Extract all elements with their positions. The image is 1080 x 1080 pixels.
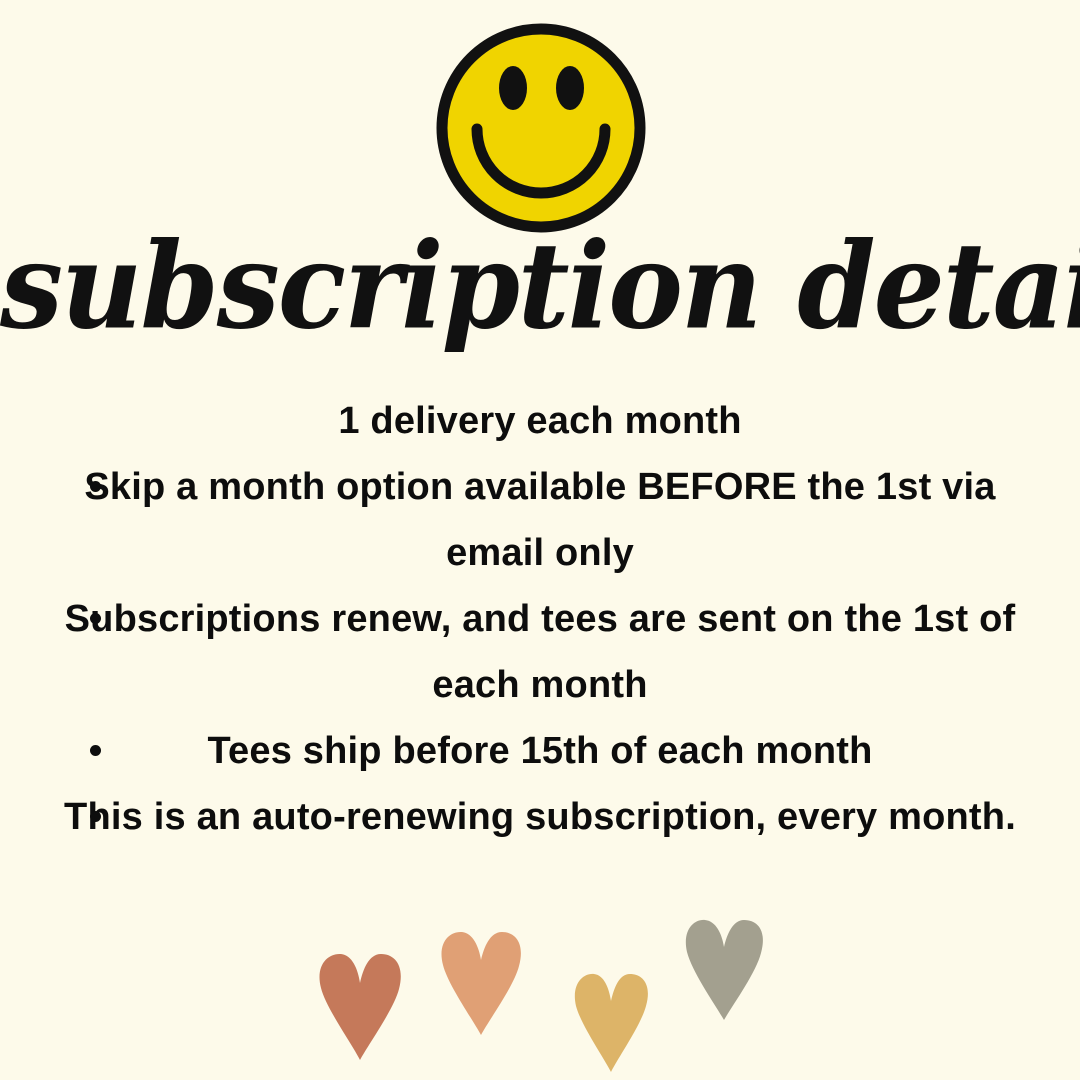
heart-decoration-row [0, 910, 1080, 1080]
list-item: Tees ship before 15th of each month [0, 718, 1080, 784]
list-item: Skip a month option available BEFORE the… [0, 454, 1080, 586]
page-title: subscription details [0, 228, 1080, 347]
heart-gold-icon [573, 972, 649, 1072]
list-item-label: Subscriptions renew, and tees are sent o… [60, 586, 1020, 718]
smiley-face-icon [433, 19, 649, 237]
lead-line: 1 delivery each month [0, 388, 1080, 454]
subscription-details-poster: subscription details 1 delivery each mon… [0, 0, 1080, 1080]
list-item-label: Skip a month option available BEFORE the… [60, 454, 1020, 586]
list-item: Subscriptions renew, and tees are sent o… [0, 586, 1080, 718]
bullet-dot-icon [90, 745, 101, 756]
heart-terracotta-icon [318, 952, 402, 1060]
list-item-label: This is an auto-renewing subscription, e… [60, 784, 1020, 850]
details-list: 1 delivery each month Skip a month optio… [0, 388, 1080, 850]
list-item: This is an auto-renewing subscription, e… [0, 784, 1080, 850]
list-item-label: Tees ship before 15th of each month [60, 718, 1020, 784]
bullet-dot-icon [90, 811, 101, 822]
heart-taupe-icon [684, 918, 764, 1020]
bullet-dot-icon [90, 613, 101, 624]
heart-salmon-icon [440, 930, 522, 1035]
bullet-dot-icon [90, 481, 101, 492]
